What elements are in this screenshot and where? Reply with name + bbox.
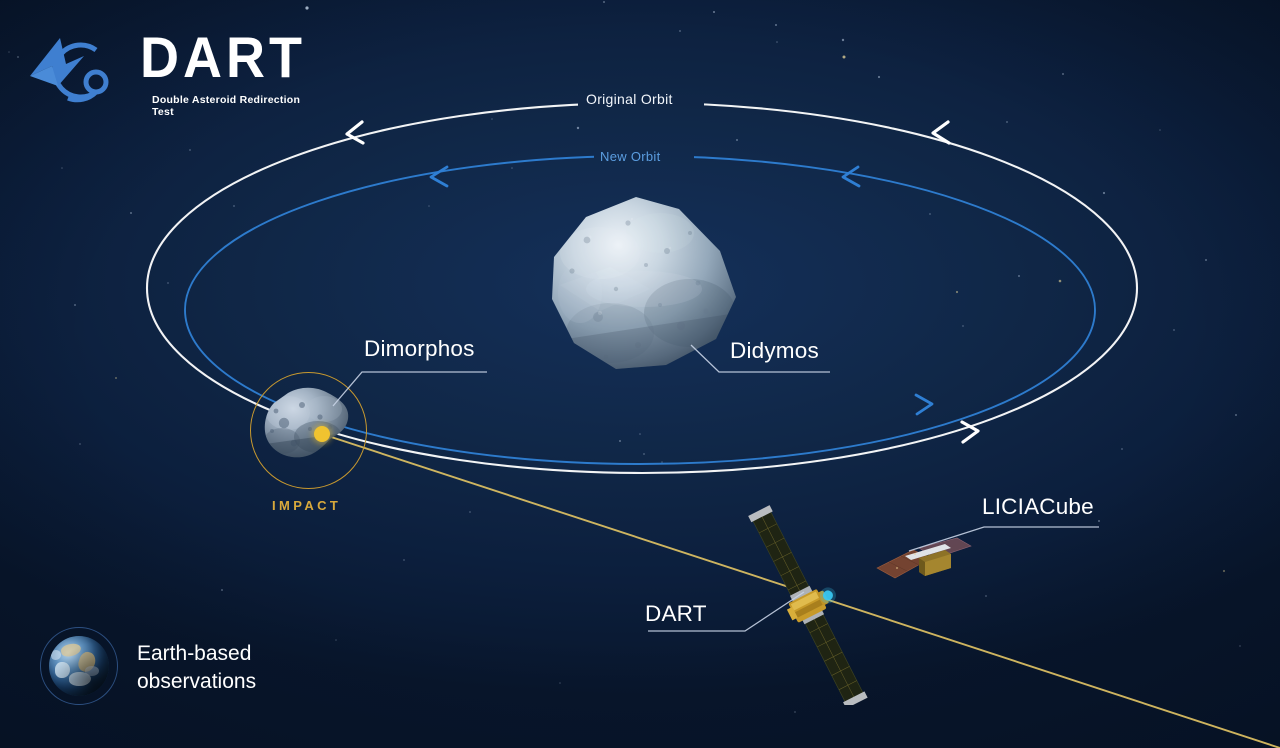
earth-observations-label: Earth-based observations xyxy=(137,640,337,695)
logo-wordmark: DART xyxy=(140,29,306,86)
earth-globe xyxy=(49,636,109,696)
original-orbit-label: Original Orbit xyxy=(586,91,673,107)
dart-logo: DART Double Asteroid Redirection Test xyxy=(22,28,322,108)
earth-icon xyxy=(40,627,118,705)
liciacube-label: LICIACube xyxy=(982,494,1094,520)
logo-subtitle: Double Asteroid Redirection Test xyxy=(152,94,322,118)
earth-label-line2: observations xyxy=(137,670,256,693)
impact-label: IMPACT xyxy=(272,498,341,513)
earth-label-line1: Earth-based xyxy=(137,642,251,665)
dart-label: DART xyxy=(645,601,707,627)
leader-dimorphos xyxy=(333,372,487,406)
dart-arrow-circle-icon xyxy=(22,30,118,104)
diagram-canvas: DART Double Asteroid Redirection Test Or… xyxy=(0,0,1280,748)
new-orbit-label: New Orbit xyxy=(600,149,661,164)
didymos-label: Didymos xyxy=(730,338,819,364)
leader-liciacube xyxy=(909,527,1099,551)
dimorphos-label: Dimorphos xyxy=(364,336,475,362)
